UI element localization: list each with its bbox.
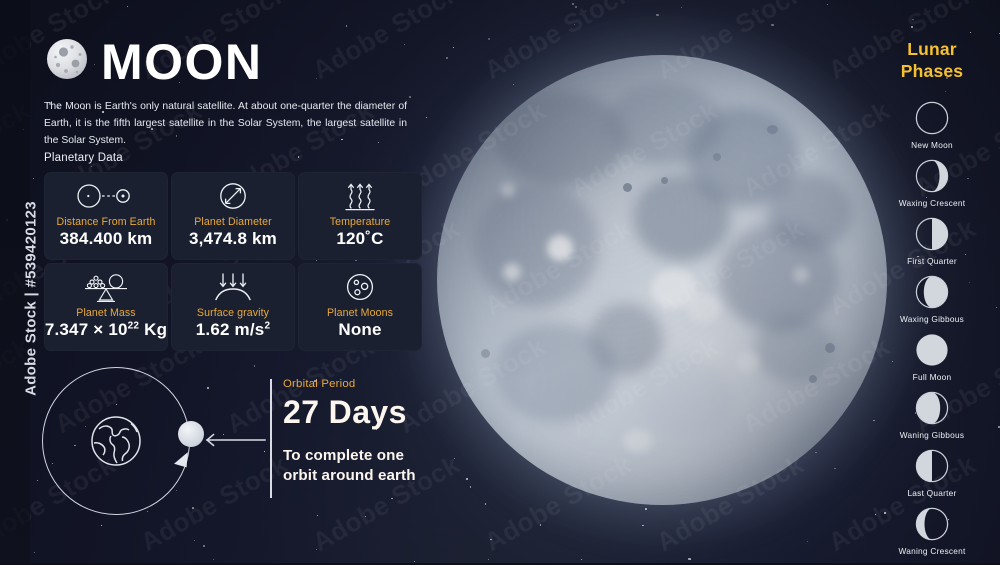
gravity-exponent: 2 <box>264 320 270 331</box>
phase-label: New Moon <box>911 140 953 150</box>
distance-two-bodies-icon <box>75 181 137 211</box>
phase-label: Waning Crescent <box>898 546 965 556</box>
description-line-2: orbit around earth <box>283 466 483 486</box>
card-label: Planet Mass <box>76 307 135 319</box>
mass-mantissa: 7.347 × 10 <box>45 320 128 339</box>
mass-exponent: 22 <box>128 320 140 331</box>
card-label: Temperature <box>330 216 391 228</box>
lunar-phases-title: Lunar Phases <box>877 38 987 83</box>
phase-disc-last-quarter-icon <box>915 449 949 483</box>
orbital-period-value: 27 Days <box>283 396 483 428</box>
phase-disc-waning-gibbous-icon <box>915 391 949 425</box>
gravity-down-arrows-icon <box>213 272 253 302</box>
phase-disc-waxing-gibbous-icon <box>915 275 949 309</box>
card-value: 384.400 km <box>60 229 153 249</box>
card-value: 7.347 × 1022 Kg <box>45 320 167 340</box>
heat-waves-up-icon <box>342 181 378 211</box>
orbital-period-block: Orbital Period 27 Days To complete one o… <box>283 378 483 486</box>
planetary-data-label: Planetary Data <box>44 152 123 164</box>
card-label: Planet Moons <box>327 307 393 319</box>
stock-credit-label: Adobe Stock | #539420123 <box>23 174 40 424</box>
lunar-phase-item-new[interactable]: New Moon <box>877 101 987 150</box>
card-value: None <box>338 320 381 340</box>
lunar-phase-item-full[interactable]: Full Moon <box>877 333 987 382</box>
earth-globe-icon <box>84 409 148 473</box>
phase-label: Waning Gibbous <box>900 430 965 440</box>
moon-disc <box>437 55 887 505</box>
lunar-phase-item-waning-gibbous[interactable]: Waning Gibbous <box>877 391 987 440</box>
card-value: 120˚C <box>336 229 383 249</box>
diameter-arrow-circle-icon <box>218 181 248 211</box>
lunar-phase-item-waxing-crescent[interactable]: Waxing Crescent <box>877 159 987 208</box>
phase-label: First Quarter <box>907 256 957 266</box>
cratered-moon-icon <box>345 272 375 302</box>
card-label: Distance From Earth <box>56 216 155 228</box>
phase-label: Waxing Gibbous <box>900 314 964 324</box>
card-planet-diameter[interactable]: Planet Diameter 3,474.8 km <box>171 172 295 260</box>
lunar-phase-item-waxing-gibbous[interactable]: Waxing Gibbous <box>877 275 987 324</box>
phase-disc-waning-crescent-icon <box>915 507 949 541</box>
card-distance-from-earth[interactable]: Distance From Earth 384.400 km <box>44 172 168 260</box>
moon-sphere-icon <box>44 36 90 87</box>
page-title: MOON <box>101 37 263 87</box>
description-line-1: To complete one <box>283 446 483 466</box>
phase-disc-new-icon <box>915 101 949 135</box>
moon-shading <box>437 55 887 505</box>
phase-label: Last Quarter <box>907 488 956 498</box>
phase-disc-full-icon <box>915 333 949 367</box>
orbital-period-divider <box>270 379 272 498</box>
planetary-data-cards: Distance From Earth 384.400 km Planet Di… <box>44 172 422 351</box>
card-label: Planet Diameter <box>194 216 271 228</box>
moon-hero-illustration <box>437 55 887 505</box>
header: MOON The Moon is Earth's only natural sa… <box>44 36 424 150</box>
card-value: 3,474.8 km <box>189 229 277 249</box>
gravity-number: 1.62 m/s <box>196 320 265 339</box>
card-temperature[interactable]: Temperature 120˚C <box>298 172 422 260</box>
arrow-left-icon <box>204 432 266 448</box>
title-line-2: Phases <box>877 60 987 82</box>
card-label: Surface gravity <box>197 307 269 319</box>
orbit-direction-arrow-icon <box>172 447 194 469</box>
balance-scale-mass-icon <box>83 272 129 302</box>
card-value: 1.62 m/s2 <box>196 320 270 340</box>
lunar-phase-item-first-quarter[interactable]: First Quarter <box>877 217 987 266</box>
orbital-period-label: Orbital Period <box>283 378 483 390</box>
card-surface-gravity[interactable]: Surface gravity 1.62 m/s2 <box>171 263 295 351</box>
phase-label: Waxing Crescent <box>899 198 966 208</box>
card-planet-mass[interactable]: Planet Mass 7.347 × 1022 Kg <box>44 263 168 351</box>
logo-and-title: MOON <box>44 36 424 87</box>
phase-disc-first-quarter-icon <box>915 217 949 251</box>
title-line-1: Lunar <box>877 38 987 60</box>
lunar-phase-item-waning-crescent[interactable]: Waning Crescent <box>877 507 987 556</box>
orbital-period-description: To complete one orbit around earth <box>283 446 483 486</box>
phase-label: Full Moon <box>913 372 952 382</box>
orbit-diagram <box>40 365 200 525</box>
intro-paragraph: The Moon is Earth's only natural satelli… <box>44 99 407 150</box>
lunar-phase-item-last-quarter[interactable]: Last Quarter <box>877 449 987 498</box>
lunar-phases-panel: Lunar Phases New MoonWaxing CrescentFirs… <box>877 38 987 565</box>
lunar-phase-list: New MoonWaxing CrescentFirst QuarterWaxi… <box>877 101 987 556</box>
phase-disc-waxing-crescent-icon <box>915 159 949 193</box>
card-planet-moons[interactable]: Planet Moons None <box>298 263 422 351</box>
mass-unit: Kg <box>139 320 167 339</box>
moon-dot-icon <box>178 421 204 447</box>
